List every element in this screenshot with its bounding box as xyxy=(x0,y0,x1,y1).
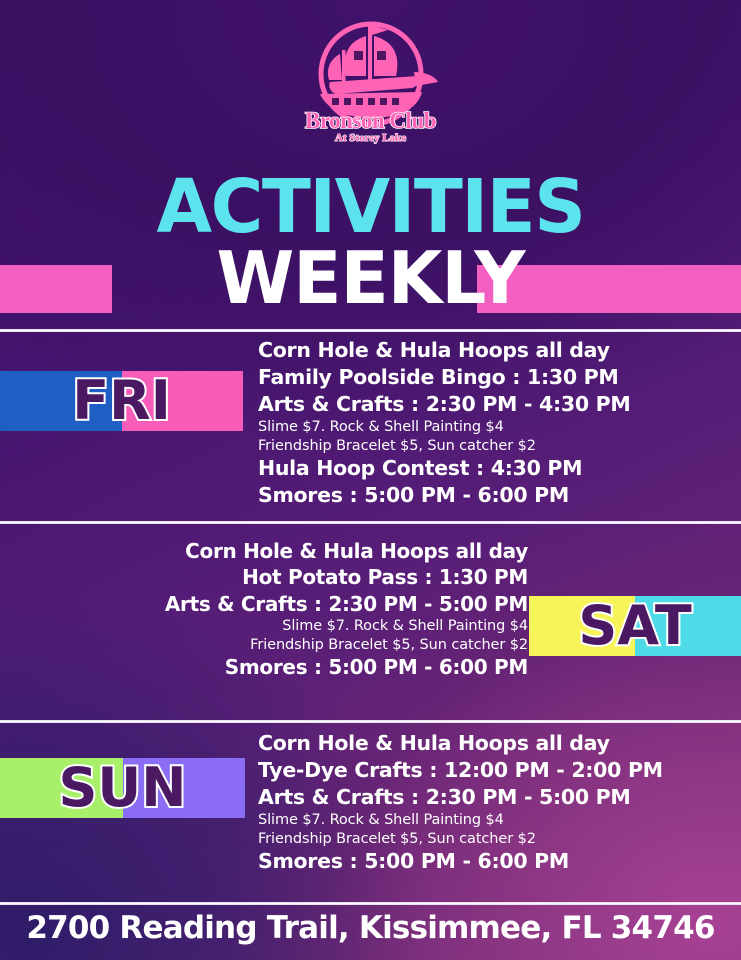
badge-sun-label: SUN xyxy=(59,761,187,815)
schedule-line: Corn Hole & Hula Hoops all day xyxy=(258,337,728,364)
day-schedule-sat: Corn Hole & Hula Hoops all dayHot Potato… xyxy=(20,538,528,681)
schedule-line: Arts & Crafts : 2:30 PM - 4:30 PM xyxy=(258,391,728,418)
badge-fri-label: FRI xyxy=(72,374,171,428)
schedule-line: Corn Hole & Hula Hoops all day xyxy=(20,538,528,564)
day-badge-sun[interactable]: SUN xyxy=(0,758,245,818)
divider-sat-sun xyxy=(0,720,741,723)
page-title: ACTIVITIES xyxy=(0,173,741,241)
schedule-line: Slime $7. Rock & Shell Painting $4 xyxy=(20,617,528,636)
schedule-line: Slime $7. Rock & Shell Painting $4 xyxy=(258,811,728,830)
schedule-line: Smores : 5:00 PM - 6:00 PM xyxy=(20,654,528,680)
schedule-line: Friendship Bracelet $5, Sun catcher $2 xyxy=(258,830,728,849)
day-badge-sat[interactable]: SAT xyxy=(529,596,741,656)
day-schedule-fri: Corn Hole & Hula Hoops all dayFamily Poo… xyxy=(258,337,728,509)
schedule-line: Hula Hoop Contest : 4:30 PM xyxy=(258,455,728,482)
schedule-line: Smores : 5:00 PM - 6:00 PM xyxy=(258,848,728,875)
divider-footer xyxy=(0,902,741,905)
title-weekly: WEEKLY xyxy=(7,245,733,311)
schedule-line: Arts & Crafts : 2:30 PM - 5:00 PM xyxy=(20,591,528,617)
schedule-line: Corn Hole & Hula Hoops all day xyxy=(258,730,728,757)
pirate-ship-icon xyxy=(296,14,446,144)
badge-sat-label: SAT xyxy=(578,599,691,653)
weekly-activities-poster: Bronson Club At Storey Lake ACTIVITIES W… xyxy=(0,0,741,960)
schedule-line: Slime $7. Rock & Shell Painting $4 xyxy=(258,418,728,437)
schedule-line: Arts & Crafts : 2:30 PM - 5:00 PM xyxy=(258,784,728,811)
club-logo: Bronson Club At Storey Lake xyxy=(0,14,741,144)
day-badge-fri[interactable]: FRI xyxy=(0,371,243,431)
day-schedule-sun: Corn Hole & Hula Hoops all dayTye-Dye Cr… xyxy=(258,730,728,875)
schedule-line: Hot Potato Pass : 1:30 PM xyxy=(20,564,528,590)
footer-address: 2700 Reading Trail, Kissimmee, FL 34746 xyxy=(0,910,741,946)
schedule-line: Friendship Bracelet $5, Sun catcher $2 xyxy=(20,636,528,655)
title-activities: ACTIVITIES xyxy=(11,173,730,241)
schedule-line: Tye-Dye Crafts : 12:00 PM - 2:00 PM xyxy=(258,757,728,784)
divider-top xyxy=(0,329,741,332)
schedule-line: Friendship Bracelet $5, Sun catcher $2 xyxy=(258,437,728,456)
schedule-line: Family Poolside Bingo : 1:30 PM xyxy=(258,364,728,391)
divider-fri-sat xyxy=(0,521,741,524)
schedule-line: Smores : 5:00 PM - 6:00 PM xyxy=(258,482,728,509)
